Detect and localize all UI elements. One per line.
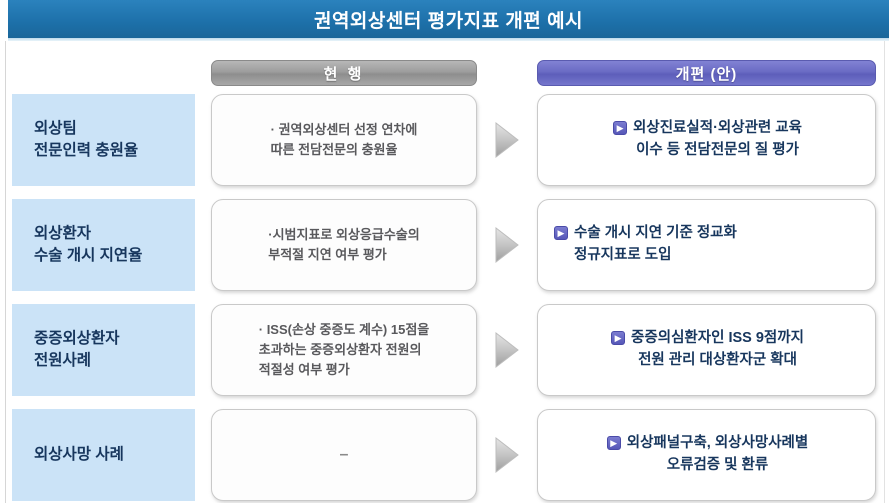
- arrow-right-icon: ▶: [611, 331, 625, 345]
- row-label-panel: 외상사망 사례: [12, 409, 195, 501]
- current-state-box: · 권역외상센터 선정 연차에 따른 전담전문의 충원율: [211, 94, 477, 186]
- table-row: 외상사망 사례 – ▶ 외상패널구축, 외상사망사례별 오류검증 및 환류: [0, 409, 889, 501]
- column-header-reform-label: 개편 (안): [676, 63, 738, 84]
- chevron-right-icon: [492, 436, 522, 474]
- page-title: 권역외상센터 평가지표 개편 예시: [314, 6, 583, 33]
- reform-state-text: 중증의심환자인 ISS 9점까지 전원 관리 대상환자군 확대: [631, 328, 804, 372]
- arrow-right-icon: ▶: [607, 436, 621, 450]
- arrow-right-icon: ▶: [613, 121, 627, 135]
- row-label-panel: 중증외상환자 전원사례: [12, 304, 195, 396]
- reform-state-box: ▶ 외상진료실적·외상관련 교육 이수 등 전담전문의 질 평가: [537, 94, 876, 186]
- arrow-right-icon: ▶: [554, 226, 568, 240]
- reform-state-text: 수술 개시 지연 기준 정교화 정규지표로 도입: [574, 223, 737, 267]
- row-label: 외상사망 사례: [34, 444, 124, 466]
- reform-state-box: ▶ 수술 개시 지연 기준 정교화 정규지표로 도입: [537, 199, 876, 291]
- column-header-current: 현 행: [211, 60, 477, 86]
- column-header-reform: 개편 (안): [537, 60, 876, 86]
- title-bar: 권역외상센터 평가지표 개편 예시: [8, 0, 889, 38]
- diagram-page: 권역외상센터 평가지표 개편 예시 현 행 개편 (안) 외상팀 전문인력 충원…: [0, 0, 889, 503]
- row-label: 중증외상환자 전원사례: [34, 328, 120, 373]
- title-underline: [8, 38, 889, 41]
- row-label-panel: 외상환자 수술 개시 지연율: [12, 199, 195, 291]
- current-state-box: –: [211, 409, 477, 501]
- row-label: 외상팀 전문인력 충원율: [34, 118, 138, 163]
- reform-state-text: 외상진료실적·외상관련 교육 이수 등 전담전문의 질 평가: [633, 118, 802, 162]
- current-state-box: · ISS(손상 중증도 계수) 15점을 초과하는 중증외상환자 전원의 적절…: [211, 304, 477, 396]
- current-state-text: ·시범지표로 외상응급수술의 부적절 지연 여부 평가: [268, 225, 419, 265]
- table-row: 외상팀 전문인력 충원율 · 권역외상센터 선정 연차에 따른 전담전문의 충원…: [0, 94, 889, 186]
- reform-state-text: 외상패널구축, 외상사망사례별 오류검증 및 환류: [627, 433, 808, 477]
- table-row: 외상환자 수술 개시 지연율 ·시범지표로 외상응급수술의 부적절 지연 여부 …: [0, 199, 889, 291]
- current-state-text: –: [222, 443, 466, 468]
- row-label: 외상환자 수술 개시 지연율: [34, 223, 142, 268]
- column-header-current-label: 현 행: [324, 63, 365, 84]
- current-state-box: ·시범지표로 외상응급수술의 부적절 지연 여부 평가: [211, 199, 477, 291]
- reform-state-box: ▶ 중증의심환자인 ISS 9점까지 전원 관리 대상환자군 확대: [537, 304, 876, 396]
- chevron-right-icon: [492, 121, 522, 159]
- chevron-right-icon: [492, 226, 522, 264]
- reform-state-box: ▶ 외상패널구축, 외상사망사례별 오류검증 및 환류: [537, 409, 876, 501]
- chevron-right-icon: [492, 331, 522, 369]
- row-label-panel: 외상팀 전문인력 충원율: [12, 94, 195, 186]
- current-state-text: · 권역외상센터 선정 연차에 따른 전담전문의 충원율: [271, 120, 418, 160]
- table-row: 중증외상환자 전원사례 · ISS(손상 중증도 계수) 15점을 초과하는 중…: [0, 304, 889, 396]
- current-state-text: · ISS(손상 중증도 계수) 15점을 초과하는 중증외상환자 전원의 적절…: [259, 320, 430, 380]
